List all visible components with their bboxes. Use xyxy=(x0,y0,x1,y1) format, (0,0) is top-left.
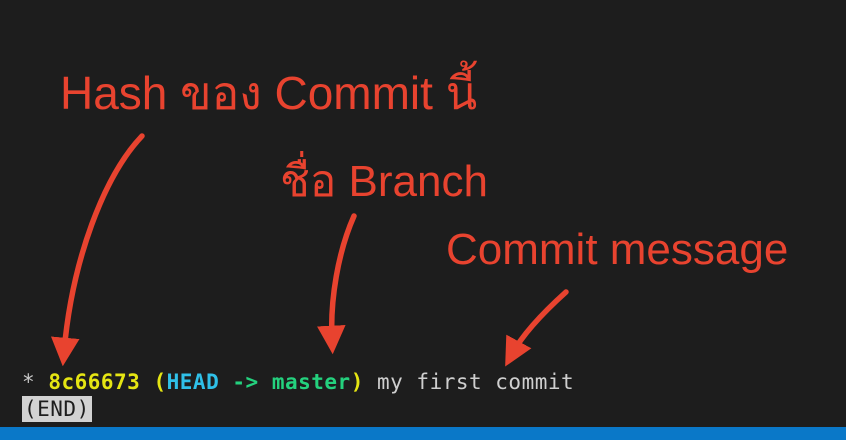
annotation-label-commit-message: Commit message xyxy=(446,228,788,272)
terminal-output: * 8c66673 (HEAD -> master) my first comm… xyxy=(0,368,846,427)
commit-message: my first commit xyxy=(377,370,574,394)
ref-close-paren: ) xyxy=(351,370,364,394)
commit-hash: 8c66673 xyxy=(48,370,140,394)
space-5 xyxy=(364,370,377,394)
arrow-to-commit-hash xyxy=(64,136,142,352)
terminal-screenshot: Hash ของ Commit นี้ ชื่อ Branch Commit m… xyxy=(0,0,846,440)
arrow-to-commit-message xyxy=(512,292,566,354)
ref-open-paren: ( xyxy=(153,370,166,394)
arrow-to-branch-name xyxy=(332,216,354,340)
head-label: HEAD xyxy=(167,370,220,394)
git-log-line: * 8c66673 (HEAD -> master) my first comm… xyxy=(22,368,574,396)
graph-marker-icon: * xyxy=(22,370,35,394)
head-arrow-icon: -> xyxy=(232,370,258,394)
annotation-label-hash: Hash ของ Commit นี้ xyxy=(60,70,477,116)
space-3 xyxy=(219,370,232,394)
branch-name: master xyxy=(272,370,351,394)
pager-end-status: (END) xyxy=(22,396,92,422)
status-bar xyxy=(0,427,846,440)
annotation-label-branch: ชื่อ Branch xyxy=(280,160,488,204)
space-1 xyxy=(35,370,48,394)
space-2 xyxy=(140,370,153,394)
space-4 xyxy=(259,370,272,394)
